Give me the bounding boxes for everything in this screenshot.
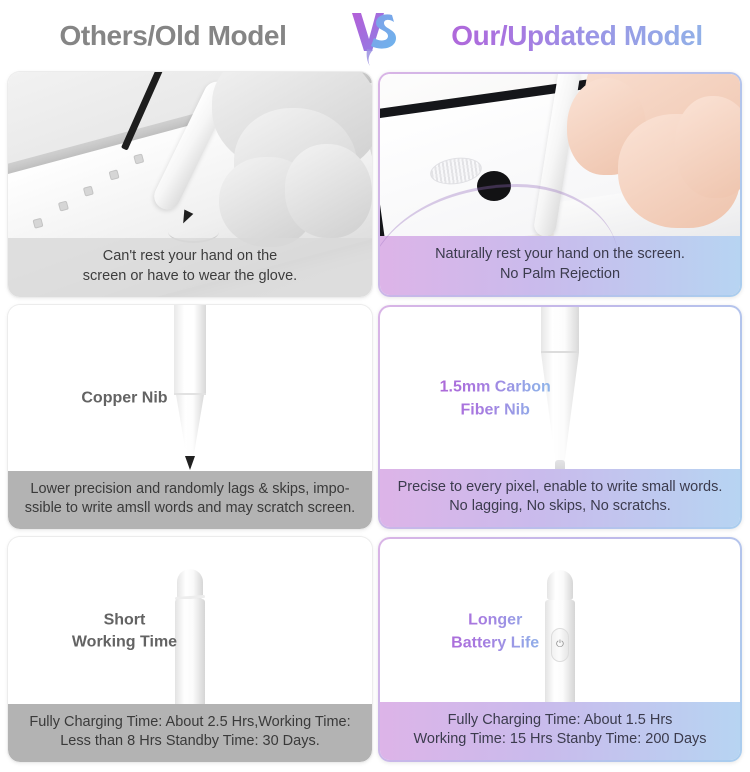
card-old-battery: Short Working Time Fully Charging Time: … (8, 537, 372, 762)
card-old-palm-rejection: Can't rest your hand on the screen or ha… (8, 72, 372, 297)
card-new-battery: ⏻ Longer Battery Life Fully Charging Tim… (378, 537, 742, 762)
comparison-infographic: Others/Old Model Our/Updated (0, 0, 750, 772)
header: Others/Old Model Our/Updated (0, 0, 750, 72)
caption-old-nib: Lower precision and randomly lags & skip… (8, 471, 372, 529)
card-new-nib: 1.5mm Carbon Fiber Nib Precise to every … (378, 305, 742, 530)
comparison-grid: Can't rest your hand on the screen or ha… (0, 72, 750, 772)
caption-old-palm-rejection: Can't rest your hand on the screen or ha… (8, 238, 372, 296)
caption-old-battery: Fully Charging Time: About 2.5 Hrs,Worki… (8, 704, 372, 762)
caption-new-nib: Precise to every pixel, enable to write … (380, 469, 740, 527)
card-new-palm-rejection: Naturally rest your hand on the screen. … (378, 72, 742, 297)
old-model-title: Others/Old Model (8, 20, 338, 52)
stylus-copper-nib-illustration (170, 305, 210, 467)
label-old-nib: Copper Nib (44, 388, 204, 411)
label-new-battery: Longer Battery Life (416, 609, 574, 654)
caption-new-palm-rejection: Naturally rest your hand on the screen. … (380, 236, 740, 294)
label-new-nib: 1.5mm Carbon Fiber Nib (416, 377, 574, 422)
caption-new-battery: Fully Charging Time: About 1.5 Hrs Worki… (380, 702, 740, 760)
vs-icon (346, 5, 404, 67)
copper-nib-tip-icon (185, 456, 195, 470)
label-old-battery: Short Working Time (44, 609, 204, 654)
card-old-nib: Copper Nib Lower precision and randomly … (8, 305, 372, 530)
new-model-title: Our/Updated Model (412, 20, 742, 52)
